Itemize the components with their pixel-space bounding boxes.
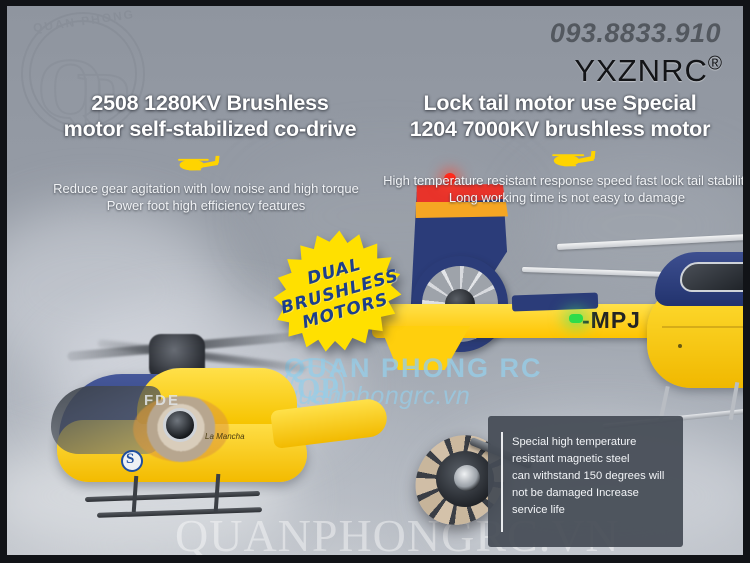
- headline-right-line2: 1204 7000KV brushless motor: [390, 116, 730, 142]
- product-banner: QUAN PHONG Q P -MPJ: [0, 0, 750, 563]
- fenestron-hub: [445, 289, 475, 319]
- small-skid-strut: [214, 474, 221, 512]
- cloud-blotch: [7, 206, 227, 376]
- info-panel-text: Special high temperature resistant magne…: [512, 434, 673, 519]
- info-line2: resistant magnetic steel: [512, 451, 673, 468]
- motor-hub: [163, 408, 197, 442]
- roundel-letter: S: [126, 451, 134, 468]
- rotor-bearing: [454, 465, 480, 491]
- small-landing-skid: [85, 491, 260, 502]
- logo-watermark-text: QUAN PHONG: [21, 6, 148, 37]
- subtext-right: High temperature resistant response spee…: [383, 172, 743, 206]
- fuselage-panel-line: [662, 326, 743, 328]
- phone-number: 093.8833.910: [550, 18, 721, 49]
- small-tail-boom: [270, 397, 389, 449]
- info-line1: Special high temperature: [512, 434, 673, 451]
- large-main-rotor-blade: [522, 267, 743, 280]
- helicopter-icon: [175, 154, 221, 173]
- small-fuselage-yellow-top: [137, 368, 297, 424]
- banner-stage: QUAN PHONG Q P -MPJ: [7, 6, 743, 555]
- fenestron-housing: [412, 256, 508, 352]
- subtext-left-line2: Power foot high efficiency features: [15, 197, 397, 214]
- fuselage-rivet: [678, 344, 682, 348]
- cloud-blotch: [7, 436, 297, 555]
- landing-skid-strut: [729, 382, 740, 420]
- brand-text: YXZNRC: [574, 53, 707, 88]
- headline-right-line1: Lock tail motor use Special: [390, 90, 730, 116]
- info-line3: can withstand 150 degrees will: [512, 468, 673, 485]
- exposed-motor-detail: [133, 396, 229, 462]
- subtext-right-line2: Long working time is not easy to damage: [383, 189, 743, 206]
- subtext-left: Reduce gear agitation with low noise and…: [15, 180, 397, 214]
- subtext-right-line1: High temperature resistant response spee…: [383, 172, 743, 189]
- headline-right: Lock tail motor use Special 1204 7000KV …: [390, 90, 730, 143]
- headline-left: 2508 1280KV Brushless motor self-stabili…: [25, 90, 395, 143]
- cockpit-window: [680, 262, 743, 292]
- small-rotor-head: [149, 334, 205, 380]
- roundel-emblem: [121, 450, 143, 472]
- small-landing-skid: [97, 507, 262, 518]
- nav-light-green: [569, 314, 583, 323]
- small-rotor-mast: [167, 368, 181, 414]
- large-main-rotor-blade: [557, 232, 743, 250]
- small-canopy-window: [51, 386, 161, 454]
- rotor-bell-housing: [436, 451, 494, 507]
- info-line5: service life: [512, 502, 673, 519]
- large-registration-text: -MPJ: [582, 307, 641, 334]
- registered-trademark-icon: ®: [708, 54, 723, 75]
- brand-name: YXZNRC®: [574, 53, 723, 89]
- headline-left-line1: 2508 1280KV Brushless: [25, 90, 395, 116]
- info-line4: not be damaged Increase: [512, 485, 673, 502]
- horizontal-stabilizer: [512, 293, 599, 312]
- small-subtext-mark: La Mancha: [205, 432, 245, 441]
- headline-left-line2: motor self-stabilized co-drive: [25, 116, 395, 142]
- dual-brushless-motors-badge: DUAL BRUSHLESS MOTORS: [265, 228, 415, 356]
- large-helicopter-illustration: -MPJ: [362, 176, 743, 406]
- helicopter-icon: [549, 149, 597, 169]
- small-main-rotor-blade: [67, 332, 297, 361]
- small-fuselage-yellow: [57, 420, 307, 482]
- small-registration-text: FDE: [144, 392, 180, 409]
- magnetic-steel-info-panel: Special high temperature resistant magne…: [488, 416, 683, 547]
- small-skid-strut: [132, 476, 139, 512]
- subtext-left-line1: Reduce gear agitation with low noise and…: [15, 180, 397, 197]
- small-fuselage-navy: [59, 374, 279, 446]
- fuselage-navy-top: [655, 252, 743, 306]
- center-watermark-letters: QP: [297, 374, 339, 404]
- fenestron-duct: [422, 266, 498, 342]
- fuselage-yellow: [647, 284, 743, 388]
- center-watermark-line2: quanphongrc.vn: [284, 383, 543, 411]
- info-panel-accent-bar: [501, 432, 503, 532]
